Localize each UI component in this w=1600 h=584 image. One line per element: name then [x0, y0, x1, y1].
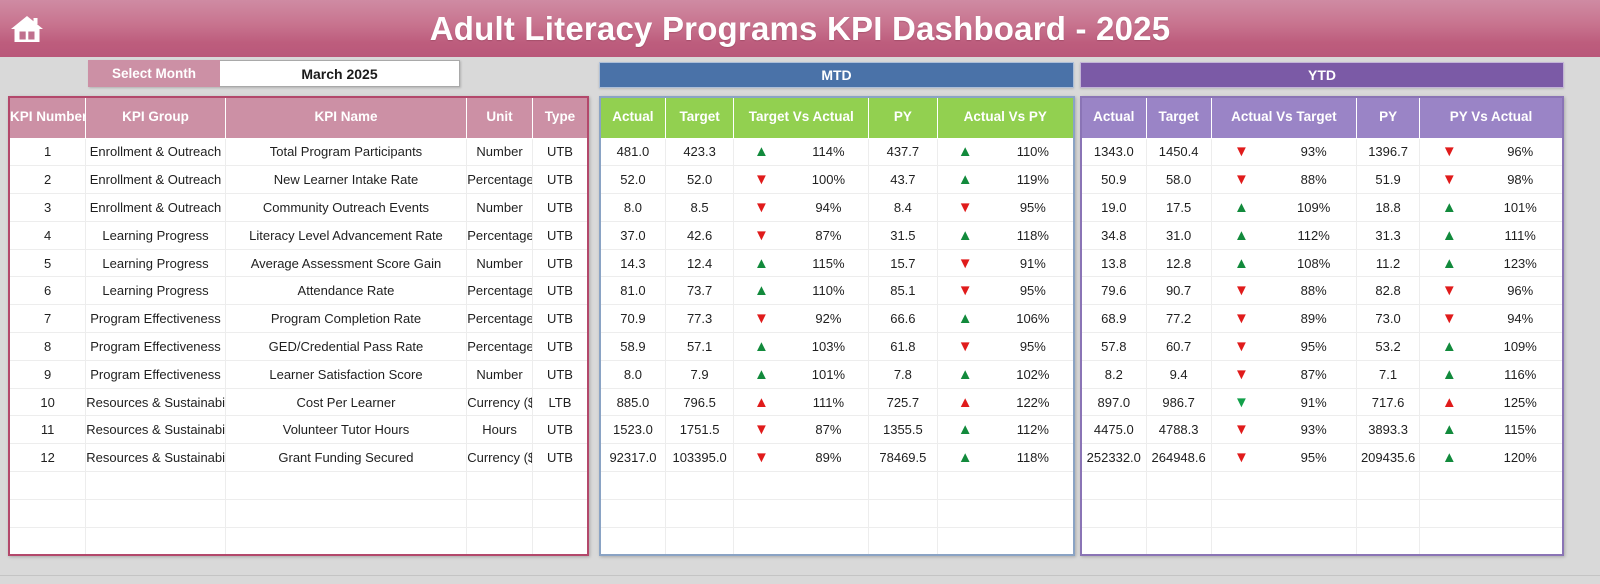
cell-mtd-target-vs-actual: ▲115% — [734, 249, 869, 277]
empty-cell — [467, 472, 533, 500]
cell-ytd-actual: 4475.0 — [1081, 416, 1146, 444]
cell-unit: Percentage (%) — [467, 333, 533, 361]
empty-cell — [937, 472, 1074, 500]
table-row-empty — [600, 527, 1074, 555]
cell-mtd-actual: 14.3 — [600, 249, 665, 277]
cell-kpi-group: Resources & Sustainability — [86, 444, 225, 472]
arrow-up-icon: ▲ — [1234, 256, 1249, 271]
cell-type: UTB — [532, 305, 588, 333]
arrow-up-icon: ▲ — [958, 144, 973, 159]
empty-cell — [869, 527, 937, 555]
cell-mtd-target-vs-actual: ▲103% — [734, 333, 869, 361]
table-row: 3Enrollment & OutreachCommunity Outreach… — [9, 194, 588, 222]
cell-type: UTB — [532, 138, 588, 166]
arrow-up-icon: ▲ — [1442, 256, 1457, 271]
arrow-up-icon: ▲ — [1442, 450, 1457, 465]
variance-percent: 110% — [1013, 144, 1053, 159]
col-type[interactable]: Type — [532, 97, 588, 138]
cell-ytd-py: 82.8 — [1357, 277, 1420, 305]
cell-kpi-number: 7 — [9, 305, 86, 333]
arrow-up-icon: ▲ — [1442, 395, 1457, 410]
ytd-header-row: Actual Target Actual Vs Target PY PY Vs … — [1081, 97, 1563, 138]
cell-mtd-target: 77.3 — [665, 305, 733, 333]
table-row: 14.312.4▲115%15.7▼91% — [600, 249, 1074, 277]
cell-kpi-number: 11 — [9, 416, 86, 444]
cell-ytd-target: 31.0 — [1146, 221, 1211, 249]
arrow-down-icon: ▼ — [754, 200, 769, 215]
variance-percent: 120% — [1500, 450, 1540, 465]
cell-ytd-target: 9.4 — [1146, 360, 1211, 388]
cell-mtd-target: 8.5 — [665, 194, 733, 222]
cell-type: UTB — [532, 360, 588, 388]
empty-cell — [869, 499, 937, 527]
home-icon — [10, 14, 44, 44]
table-row: 1523.01751.5▼87%1355.5▲112% — [600, 416, 1074, 444]
arrow-up-icon: ▲ — [1234, 200, 1249, 215]
cell-type: UTB — [532, 194, 588, 222]
arrow-up-icon: ▲ — [754, 256, 769, 271]
cell-ytd-actual: 57.8 — [1081, 333, 1146, 361]
cell-ytd-py: 3893.3 — [1357, 416, 1420, 444]
table-row-empty — [600, 472, 1074, 500]
table-row: 19.017.5▲109%18.8▲101% — [1081, 194, 1563, 222]
variance-percent: 102% — [1013, 367, 1053, 382]
cell-mtd-target-vs-actual: ▼87% — [734, 416, 869, 444]
cell-mtd-target-vs-actual: ▲110% — [734, 277, 869, 305]
cell-ytd-py-vs-actual: ▲123% — [1420, 249, 1563, 277]
col-kpi-number[interactable]: KPI Number — [9, 97, 86, 138]
mtd-band-header: MTD — [599, 62, 1074, 88]
table-row: 11Resources & SustainabilityVolunteer Tu… — [9, 416, 588, 444]
cell-kpi-group: Enrollment & Outreach — [86, 194, 225, 222]
table-row: 8.08.5▼94%8.4▼95% — [600, 194, 1074, 222]
cell-ytd-actual: 252332.0 — [1081, 444, 1146, 472]
cell-kpi-name: Total Program Participants — [225, 138, 467, 166]
variance-percent: 88% — [1294, 283, 1334, 298]
cell-ytd-py-vs-actual: ▲116% — [1420, 360, 1563, 388]
table-row: 50.958.0▼88%51.9▼98% — [1081, 166, 1563, 194]
variance-percent: 87% — [808, 228, 848, 243]
cell-ytd-py: 31.3 — [1357, 221, 1420, 249]
table-row: 481.0423.3▲114%437.7▲110% — [600, 138, 1074, 166]
cell-ytd-actual-vs-target: ▼95% — [1211, 333, 1356, 361]
title-bar: Adult Literacy Programs KPI Dashboard - … — [0, 0, 1600, 57]
empty-cell — [600, 527, 665, 555]
col-ytd-py-vs-actual[interactable]: PY Vs Actual — [1420, 97, 1563, 138]
cell-ytd-py-vs-actual: ▲101% — [1420, 194, 1563, 222]
arrow-up-icon: ▲ — [754, 395, 769, 410]
cell-type: UTB — [532, 444, 588, 472]
cell-mtd-py: 78469.5 — [869, 444, 937, 472]
cell-mtd-actual: 8.0 — [600, 360, 665, 388]
cell-kpi-name: Attendance Rate — [225, 277, 467, 305]
variance-percent: 109% — [1294, 200, 1334, 215]
variance-percent: 95% — [1294, 339, 1334, 354]
cell-unit: Number — [467, 360, 533, 388]
variance-percent: 89% — [1294, 311, 1334, 326]
cell-kpi-number: 10 — [9, 388, 86, 416]
table-row: 8Program EffectivenessGED/Credential Pas… — [9, 333, 588, 361]
empty-cell — [1081, 527, 1146, 555]
cell-mtd-target: 57.1 — [665, 333, 733, 361]
cell-kpi-group: Program Effectiveness — [86, 333, 225, 361]
cell-mtd-py: 437.7 — [869, 138, 937, 166]
cell-kpi-name: GED/Credential Pass Rate — [225, 333, 467, 361]
table-row: 4475.04788.3▼93%3893.3▲115% — [1081, 416, 1563, 444]
variance-percent: 89% — [808, 450, 848, 465]
cell-ytd-target: 986.7 — [1146, 388, 1211, 416]
table-row: 34.831.0▲112%31.3▲111% — [1081, 221, 1563, 249]
cell-ytd-target: 90.7 — [1146, 277, 1211, 305]
variance-percent: 93% — [1294, 144, 1334, 159]
cell-unit: Number — [467, 194, 533, 222]
cell-unit: Percentage (%) — [467, 221, 533, 249]
cell-mtd-py: 85.1 — [869, 277, 937, 305]
cell-ytd-py: 7.1 — [1357, 360, 1420, 388]
cell-ytd-actual: 68.9 — [1081, 305, 1146, 333]
cell-mtd-actual-vs-py: ▲122% — [937, 388, 1074, 416]
cell-ytd-py-vs-actual: ▲109% — [1420, 333, 1563, 361]
cell-mtd-target: 103395.0 — [665, 444, 733, 472]
ytd-body: 1343.01450.4▼93%1396.7▼96%50.958.0▼88%51… — [1081, 138, 1563, 555]
variance-percent: 91% — [1294, 395, 1334, 410]
cell-mtd-actual-vs-py: ▲118% — [937, 221, 1074, 249]
cell-mtd-actual-vs-py: ▲118% — [937, 444, 1074, 472]
arrow-down-icon: ▼ — [1234, 339, 1249, 354]
cell-mtd-target-vs-actual: ▼100% — [734, 166, 869, 194]
cell-mtd-target: 12.4 — [665, 249, 733, 277]
cell-mtd-py: 725.7 — [869, 388, 937, 416]
empty-cell — [1081, 499, 1146, 527]
table-row: 885.0796.5▲111%725.7▲122% — [600, 388, 1074, 416]
arrow-up-icon: ▲ — [754, 339, 769, 354]
cell-unit: Currency ($) — [467, 388, 533, 416]
empty-cell — [9, 527, 86, 555]
arrow-down-icon: ▼ — [1234, 367, 1249, 382]
variance-percent: 123% — [1500, 256, 1540, 271]
variance-percent: 95% — [1013, 339, 1053, 354]
table-row: 1Enrollment & OutreachTotal Program Part… — [9, 138, 588, 166]
cell-ytd-py: 717.6 — [1357, 388, 1420, 416]
kpi-meta-header-row: KPI Number KPI Group KPI Name Unit Type — [9, 97, 588, 138]
cell-ytd-py-vs-actual: ▲115% — [1420, 416, 1563, 444]
variance-percent: 114% — [808, 144, 848, 159]
cell-ytd-actual-vs-target: ▼95% — [1211, 444, 1356, 472]
cell-mtd-target-vs-actual: ▲111% — [734, 388, 869, 416]
cell-unit: Percentage (%) — [467, 277, 533, 305]
arrow-down-icon: ▼ — [1442, 172, 1457, 187]
arrow-up-icon: ▲ — [754, 144, 769, 159]
cell-ytd-py-vs-actual: ▲120% — [1420, 444, 1563, 472]
arrow-down-icon: ▼ — [1234, 395, 1249, 410]
bottom-edge — [0, 575, 1600, 584]
variance-percent: 100% — [808, 172, 848, 187]
cell-mtd-actual-vs-py: ▼91% — [937, 249, 1074, 277]
cell-kpi-name: Literacy Level Advancement Rate — [225, 221, 467, 249]
cell-mtd-py: 15.7 — [869, 249, 937, 277]
col-mtd-actual-vs-py[interactable]: Actual Vs PY — [937, 97, 1074, 138]
arrow-down-icon: ▼ — [754, 172, 769, 187]
cell-mtd-actual: 8.0 — [600, 194, 665, 222]
variance-percent: 116% — [1500, 367, 1540, 382]
cell-ytd-py: 18.8 — [1357, 194, 1420, 222]
cell-mtd-actual: 70.9 — [600, 305, 665, 333]
empty-cell — [600, 472, 665, 500]
cell-ytd-target: 12.8 — [1146, 249, 1211, 277]
cell-mtd-py: 61.8 — [869, 333, 937, 361]
cell-type: UTB — [532, 277, 588, 305]
cell-kpi-group: Program Effectiveness — [86, 360, 225, 388]
variance-percent: 94% — [808, 200, 848, 215]
empty-cell — [1420, 499, 1563, 527]
arrow-up-icon: ▲ — [958, 172, 973, 187]
empty-cell — [1420, 527, 1563, 555]
table-row: 13.812.8▲108%11.2▲123% — [1081, 249, 1563, 277]
table-row: 92317.0103395.0▼89%78469.5▲118% — [600, 444, 1074, 472]
cell-mtd-actual-vs-py: ▲112% — [937, 416, 1074, 444]
variance-percent: 93% — [1294, 422, 1334, 437]
cell-kpi-name: Average Assessment Score Gain — [225, 249, 467, 277]
table-row: 12Resources & SustainabilityGrant Fundin… — [9, 444, 588, 472]
arrow-down-icon: ▼ — [958, 200, 973, 215]
cell-kpi-group: Learning Progress — [86, 221, 225, 249]
empty-cell — [86, 472, 225, 500]
variance-percent: 115% — [808, 256, 848, 271]
table-row: 37.042.6▼87%31.5▲118% — [600, 221, 1074, 249]
cell-mtd-actual: 37.0 — [600, 221, 665, 249]
col-mtd-target[interactable]: Target — [665, 97, 733, 138]
empty-cell — [532, 472, 588, 500]
empty-cell — [1357, 527, 1420, 555]
cell-ytd-actual-vs-target: ▲109% — [1211, 194, 1356, 222]
empty-cell — [665, 472, 733, 500]
variance-percent: 91% — [1013, 256, 1053, 271]
cell-kpi-group: Learning Progress — [86, 277, 225, 305]
table-row-empty — [600, 499, 1074, 527]
cell-ytd-target: 264948.6 — [1146, 444, 1211, 472]
variance-percent: 103% — [808, 339, 848, 354]
col-ytd-actual[interactable]: Actual — [1081, 97, 1146, 138]
cell-mtd-target: 7.9 — [665, 360, 733, 388]
cell-ytd-py-vs-actual: ▲111% — [1420, 221, 1563, 249]
cell-kpi-number: 3 — [9, 194, 86, 222]
cell-mtd-actual-vs-py: ▼95% — [937, 277, 1074, 305]
empty-cell — [1420, 472, 1563, 500]
cell-mtd-target: 1751.5 — [665, 416, 733, 444]
kpi-meta-table: KPI Number KPI Group KPI Name Unit Type … — [8, 96, 589, 556]
cell-mtd-py: 43.7 — [869, 166, 937, 194]
cell-ytd-py-vs-actual: ▼96% — [1420, 277, 1563, 305]
variance-percent: 87% — [808, 422, 848, 437]
table-row: 1343.01450.4▼93%1396.7▼96% — [1081, 138, 1563, 166]
mtd-body: 481.0423.3▲114%437.7▲110%52.052.0▼100%43… — [600, 138, 1074, 555]
cell-kpi-name: Volunteer Tutor Hours — [225, 416, 467, 444]
variance-percent: 111% — [1500, 228, 1540, 243]
arrow-up-icon: ▲ — [1442, 200, 1457, 215]
table-row: 58.957.1▲103%61.8▼95% — [600, 333, 1074, 361]
arrow-down-icon: ▼ — [754, 228, 769, 243]
cell-ytd-py: 209435.6 — [1357, 444, 1420, 472]
empty-cell — [532, 499, 588, 527]
col-kpi-name[interactable]: KPI Name — [225, 97, 467, 138]
cell-mtd-target-vs-actual: ▲101% — [734, 360, 869, 388]
empty-cell — [1357, 472, 1420, 500]
home-button[interactable] — [0, 0, 53, 57]
arrow-down-icon: ▼ — [1234, 422, 1249, 437]
col-mtd-py[interactable]: PY — [869, 97, 937, 138]
cell-kpi-name: Grant Funding Secured — [225, 444, 467, 472]
variance-percent: 109% — [1500, 339, 1540, 354]
arrow-up-icon: ▲ — [958, 311, 973, 326]
arrow-down-icon: ▼ — [958, 283, 973, 298]
cell-mtd-py: 8.4 — [869, 194, 937, 222]
empty-cell — [1211, 527, 1356, 555]
variance-percent: 118% — [1013, 228, 1053, 243]
kpi-meta-body: 1Enrollment & OutreachTotal Program Part… — [9, 138, 588, 555]
variance-percent: 101% — [1500, 200, 1540, 215]
empty-cell — [1081, 472, 1146, 500]
cell-mtd-target-vs-actual: ▼92% — [734, 305, 869, 333]
cell-mtd-actual: 885.0 — [600, 388, 665, 416]
table-row: 6Learning ProgressAttendance RatePercent… — [9, 277, 588, 305]
empty-cell — [225, 472, 467, 500]
table-row: 70.977.3▼92%66.6▲106% — [600, 305, 1074, 333]
cell-unit: Number — [467, 138, 533, 166]
variance-percent: 95% — [1013, 200, 1053, 215]
arrow-up-icon: ▲ — [1442, 367, 1457, 382]
cell-ytd-target: 58.0 — [1146, 166, 1211, 194]
variance-percent: 111% — [808, 395, 848, 410]
table-row-empty — [9, 527, 588, 555]
empty-cell — [1146, 499, 1211, 527]
variance-percent: 106% — [1013, 311, 1053, 326]
cell-mtd-actual: 58.9 — [600, 333, 665, 361]
arrow-up-icon: ▲ — [754, 283, 769, 298]
cell-mtd-target-vs-actual: ▼87% — [734, 221, 869, 249]
empty-cell — [467, 527, 533, 555]
arrow-down-icon: ▼ — [1442, 144, 1457, 159]
cell-ytd-actual: 79.6 — [1081, 277, 1146, 305]
arrow-up-icon: ▲ — [958, 228, 973, 243]
cell-kpi-name: New Learner Intake Rate — [225, 166, 467, 194]
cell-ytd-actual-vs-target: ▼88% — [1211, 277, 1356, 305]
variance-percent: 98% — [1500, 172, 1540, 187]
arrow-up-icon: ▲ — [958, 450, 973, 465]
arrow-down-icon: ▼ — [1234, 283, 1249, 298]
col-ytd-py[interactable]: PY — [1357, 97, 1420, 138]
cell-kpi-number: 4 — [9, 221, 86, 249]
col-kpi-group[interactable]: KPI Group — [86, 97, 225, 138]
cell-kpi-name: Learner Satisfaction Score — [225, 360, 467, 388]
cell-unit: Percentage (%) — [467, 305, 533, 333]
cell-mtd-actual-vs-py: ▲106% — [937, 305, 1074, 333]
variance-percent: 95% — [1013, 283, 1053, 298]
cell-mtd-actual: 481.0 — [600, 138, 665, 166]
cell-ytd-py-vs-actual: ▼94% — [1420, 305, 1563, 333]
cell-ytd-target: 17.5 — [1146, 194, 1211, 222]
arrow-down-icon: ▼ — [754, 450, 769, 465]
cell-mtd-target-vs-actual: ▲114% — [734, 138, 869, 166]
empty-cell — [225, 499, 467, 527]
empty-cell — [9, 499, 86, 527]
cell-kpi-name: Cost Per Learner — [225, 388, 467, 416]
cell-unit: Number — [467, 249, 533, 277]
empty-cell — [1146, 472, 1211, 500]
empty-cell — [1211, 499, 1356, 527]
table-row: 68.977.2▼89%73.0▼94% — [1081, 305, 1563, 333]
cell-unit: Hours — [467, 416, 533, 444]
ytd-band-header: YTD — [1080, 62, 1564, 88]
variance-percent: 115% — [1500, 422, 1540, 437]
cell-ytd-target: 77.2 — [1146, 305, 1211, 333]
cell-ytd-actual-vs-target: ▼89% — [1211, 305, 1356, 333]
arrow-down-icon: ▼ — [1234, 311, 1249, 326]
variance-percent: 108% — [1294, 256, 1334, 271]
cell-ytd-py: 73.0 — [1357, 305, 1420, 333]
empty-cell — [937, 527, 1074, 555]
cell-mtd-actual: 1523.0 — [600, 416, 665, 444]
table-row: 8.29.4▼87%7.1▲116% — [1081, 360, 1563, 388]
arrow-down-icon: ▼ — [1234, 172, 1249, 187]
cell-kpi-number: 2 — [9, 166, 86, 194]
cell-type: UTB — [532, 333, 588, 361]
cell-type: UTB — [532, 166, 588, 194]
arrow-down-icon: ▼ — [1442, 311, 1457, 326]
cell-type: UTB — [532, 416, 588, 444]
empty-cell — [467, 499, 533, 527]
cell-mtd-py: 7.8 — [869, 360, 937, 388]
empty-cell — [937, 499, 1074, 527]
empty-cell — [734, 499, 869, 527]
cell-kpi-group: Enrollment & Outreach — [86, 166, 225, 194]
variance-percent: 112% — [1294, 228, 1334, 243]
cell-ytd-actual-vs-target: ▼87% — [1211, 360, 1356, 388]
table-row: 9Program EffectivenessLearner Satisfacti… — [9, 360, 588, 388]
table-row-empty — [9, 499, 588, 527]
page-title: Adult Literacy Programs KPI Dashboard - … — [53, 10, 1547, 48]
table-row: 8.07.9▲101%7.8▲102% — [600, 360, 1074, 388]
cell-ytd-actual: 13.8 — [1081, 249, 1146, 277]
arrow-up-icon: ▲ — [958, 422, 973, 437]
col-ytd-target[interactable]: Target — [1146, 97, 1211, 138]
arrow-up-icon: ▲ — [1442, 422, 1457, 437]
cell-ytd-py: 51.9 — [1357, 166, 1420, 194]
variance-percent: 92% — [808, 311, 848, 326]
arrow-down-icon: ▼ — [958, 256, 973, 271]
cell-ytd-actual: 19.0 — [1081, 194, 1146, 222]
col-unit[interactable]: Unit — [467, 97, 533, 138]
variance-percent: 95% — [1294, 450, 1334, 465]
table-row-empty — [1081, 527, 1563, 555]
col-mtd-target-vs-actual[interactable]: Target Vs Actual — [734, 97, 869, 138]
empty-cell — [1357, 499, 1420, 527]
col-ytd-actual-vs-target[interactable]: Actual Vs Target — [1211, 97, 1356, 138]
variance-percent: 87% — [1294, 367, 1334, 382]
table-row-empty — [9, 472, 588, 500]
select-month-dropdown[interactable]: March 2025 — [220, 60, 460, 87]
cell-unit: Currency ($) — [467, 444, 533, 472]
arrow-down-icon: ▼ — [958, 339, 973, 354]
variance-percent: 88% — [1294, 172, 1334, 187]
table-row: 2Enrollment & OutreachNew Learner Intake… — [9, 166, 588, 194]
cell-mtd-target: 796.5 — [665, 388, 733, 416]
select-month-label: Select Month — [88, 60, 220, 87]
cell-kpi-number: 8 — [9, 333, 86, 361]
cell-kpi-group: Enrollment & Outreach — [86, 138, 225, 166]
cell-mtd-actual-vs-py: ▲110% — [937, 138, 1074, 166]
variance-percent: 96% — [1500, 283, 1540, 298]
col-mtd-actual[interactable]: Actual — [600, 97, 665, 138]
